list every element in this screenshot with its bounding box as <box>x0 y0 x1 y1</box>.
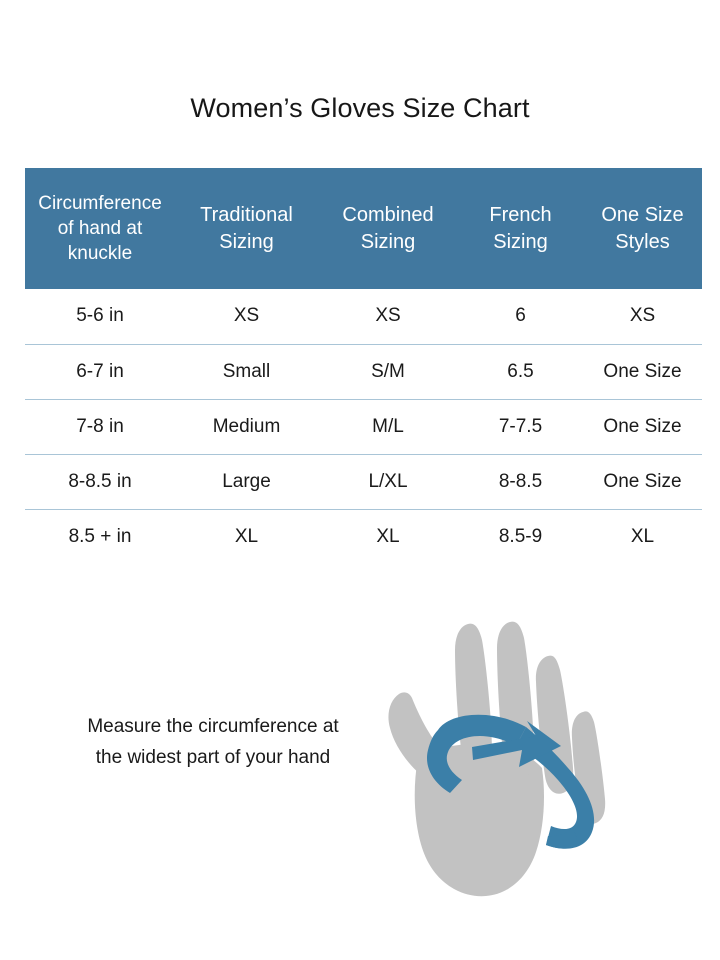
cell-circumference: 6-7 in <box>25 344 175 399</box>
cell-one-size: One Size <box>583 344 702 399</box>
table-row: 8-8.5 in Large L/XL 8-8.5 One Size <box>25 454 702 509</box>
table-row: 6-7 in Small S/M 6.5 One Size <box>25 344 702 399</box>
cell-circumference: 8-8.5 in <box>25 454 175 509</box>
column-header-french-sizing: French Sizing <box>458 168 583 289</box>
cell-combined: M/L <box>318 399 458 454</box>
hand-measuring-diagram <box>376 600 626 910</box>
cell-traditional: XL <box>175 509 318 564</box>
cell-traditional: Medium <box>175 399 318 454</box>
cell-one-size: XS <box>583 289 702 344</box>
cell-french: 6 <box>458 289 583 344</box>
cell-traditional: Large <box>175 454 318 509</box>
table-row: 5-6 in XS XS 6 XS <box>25 289 702 344</box>
cell-traditional: XS <box>175 289 318 344</box>
size-chart-page: Women’s Gloves Size Chart Circumference … <box>0 0 720 960</box>
cell-french: 8-8.5 <box>458 454 583 509</box>
table-body: 5-6 in XS XS 6 XS 6-7 in Small S/M 6.5 O… <box>25 289 702 564</box>
table-row: 8.5 + in XL XL 8.5-9 XL <box>25 509 702 564</box>
measurement-instruction-line-2: the widest part of your hand <box>48 743 378 774</box>
cell-combined: S/M <box>318 344 458 399</box>
cell-traditional: Small <box>175 344 318 399</box>
cell-combined: L/XL <box>318 454 458 509</box>
cell-one-size: One Size <box>583 399 702 454</box>
column-header-one-size-styles: One Size Styles <box>583 168 702 289</box>
cell-one-size: XL <box>583 509 702 564</box>
table-header-row: Circumference of hand at knuckle Traditi… <box>25 168 702 289</box>
cell-circumference: 7-8 in <box>25 399 175 454</box>
cell-circumference: 8.5 + in <box>25 509 175 564</box>
page-title: Women’s Gloves Size Chart <box>0 93 720 124</box>
table-row: 7-8 in Medium M/L 7-7.5 One Size <box>25 399 702 454</box>
column-header-circumference: Circumference of hand at knuckle <box>25 168 175 289</box>
column-header-combined-sizing: Combined Sizing <box>318 168 458 289</box>
cell-one-size: One Size <box>583 454 702 509</box>
cell-french: 8.5-9 <box>458 509 583 564</box>
table-header: Circumference of hand at knuckle Traditi… <box>25 168 702 289</box>
column-header-traditional-sizing: Traditional Sizing <box>175 168 318 289</box>
cell-combined: XS <box>318 289 458 344</box>
hand-shape-icon <box>388 622 605 897</box>
size-chart-table: Circumference of hand at knuckle Traditi… <box>25 168 702 564</box>
cell-combined: XL <box>318 509 458 564</box>
cell-french: 6.5 <box>458 344 583 399</box>
hand-illustration <box>376 600 626 910</box>
measurement-instruction: Measure the circumference at the widest … <box>48 712 378 774</box>
cell-french: 7-7.5 <box>458 399 583 454</box>
cell-circumference: 5-6 in <box>25 289 175 344</box>
measurement-instruction-line-1: Measure the circumference at <box>48 712 378 743</box>
